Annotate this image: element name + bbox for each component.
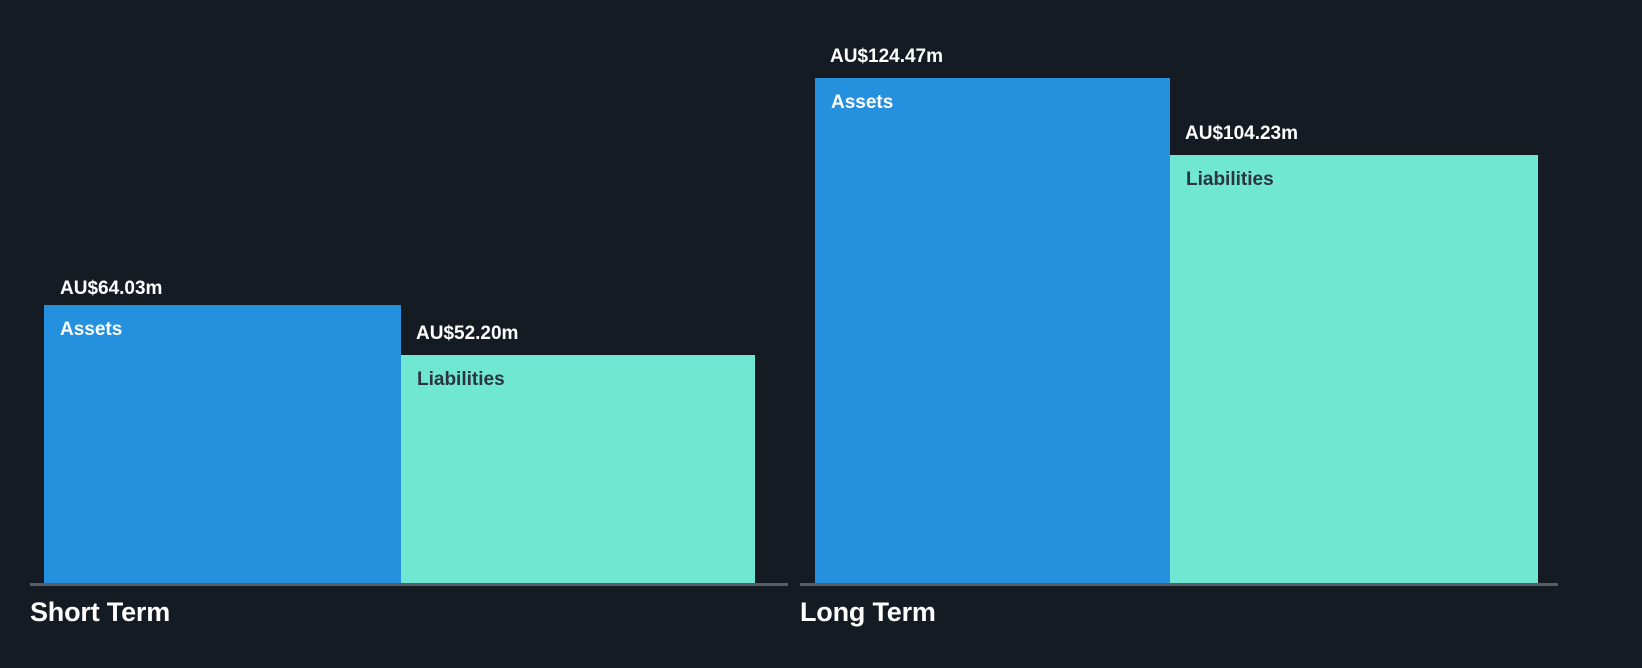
chart-group-short-term: Assets AU$64.03m Liabilities AU$52.20m S… bbox=[30, 0, 788, 668]
bar-series-label-assets: Assets bbox=[60, 319, 122, 341]
bar-long-term-assets[interactable]: Assets bbox=[815, 78, 1170, 583]
bar-long-term-liabilities[interactable]: Liabilities bbox=[1170, 155, 1538, 583]
bar-value-label-long-term-assets: AU$124.47m bbox=[830, 46, 943, 68]
financial-position-chart: Assets AU$64.03m Liabilities AU$52.20m S… bbox=[0, 0, 1642, 668]
bar-value-label-long-term-liabilities: AU$104.23m bbox=[1185, 123, 1298, 145]
plot-area-short-term: Assets AU$64.03m Liabilities AU$52.20m bbox=[30, 0, 788, 583]
axis-baseline-short-term bbox=[30, 583, 788, 586]
bar-series-label-liabilities: Liabilities bbox=[417, 369, 505, 391]
bar-short-term-assets[interactable]: Assets bbox=[44, 305, 401, 583]
chart-group-long-term: Assets AU$124.47m Liabilities AU$104.23m… bbox=[800, 0, 1558, 668]
axis-baseline-long-term bbox=[800, 583, 1558, 586]
plot-area-long-term: Assets AU$124.47m Liabilities AU$104.23m bbox=[800, 0, 1558, 583]
bar-series-label-liabilities: Liabilities bbox=[1186, 169, 1274, 191]
bar-value-label-short-term-liabilities: AU$52.20m bbox=[416, 323, 518, 345]
group-label-long-term: Long Term bbox=[800, 597, 936, 628]
group-label-short-term: Short Term bbox=[30, 597, 170, 628]
bar-short-term-liabilities[interactable]: Liabilities bbox=[401, 355, 755, 583]
bar-value-label-short-term-assets: AU$64.03m bbox=[60, 278, 162, 300]
bar-series-label-assets: Assets bbox=[831, 92, 893, 114]
